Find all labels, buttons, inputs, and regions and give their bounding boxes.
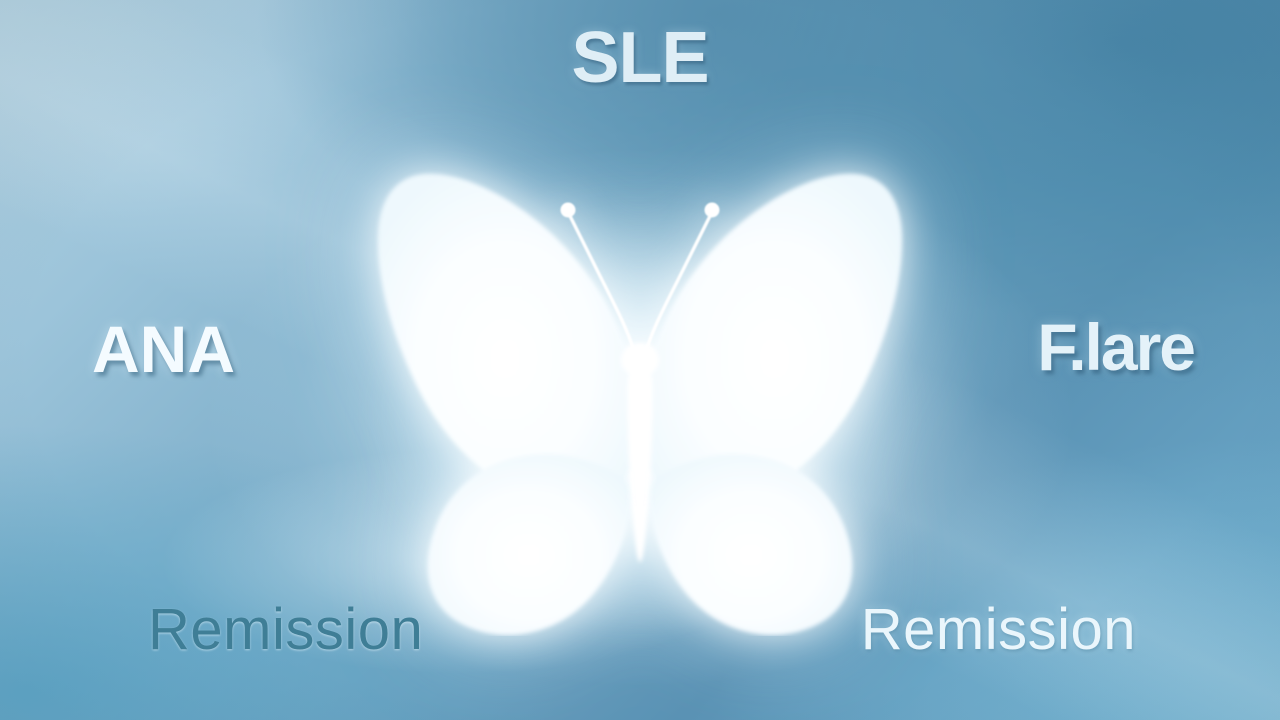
butterfly-head	[621, 343, 659, 377]
butterfly-icon	[330, 148, 950, 636]
right-upper-wing	[647, 174, 902, 503]
label-flare: F.lare	[1037, 314, 1194, 380]
left-lower-wing	[428, 454, 631, 635]
label-remission-right: Remission	[861, 601, 1136, 659]
slide-canvas: SLE ANA F.lare Remission Remission	[0, 0, 1280, 720]
butterfly-figure	[330, 148, 950, 636]
left-upper-wing	[378, 174, 633, 503]
label-ana: ANA	[92, 316, 235, 382]
label-sle: SLE	[0, 22, 1280, 94]
left-antenna-tip	[561, 203, 576, 218]
label-remission-left: Remission	[148, 601, 423, 659]
right-antenna-tip	[705, 203, 720, 218]
right-lower-wing	[650, 454, 853, 635]
butterfly-body	[627, 362, 653, 562]
